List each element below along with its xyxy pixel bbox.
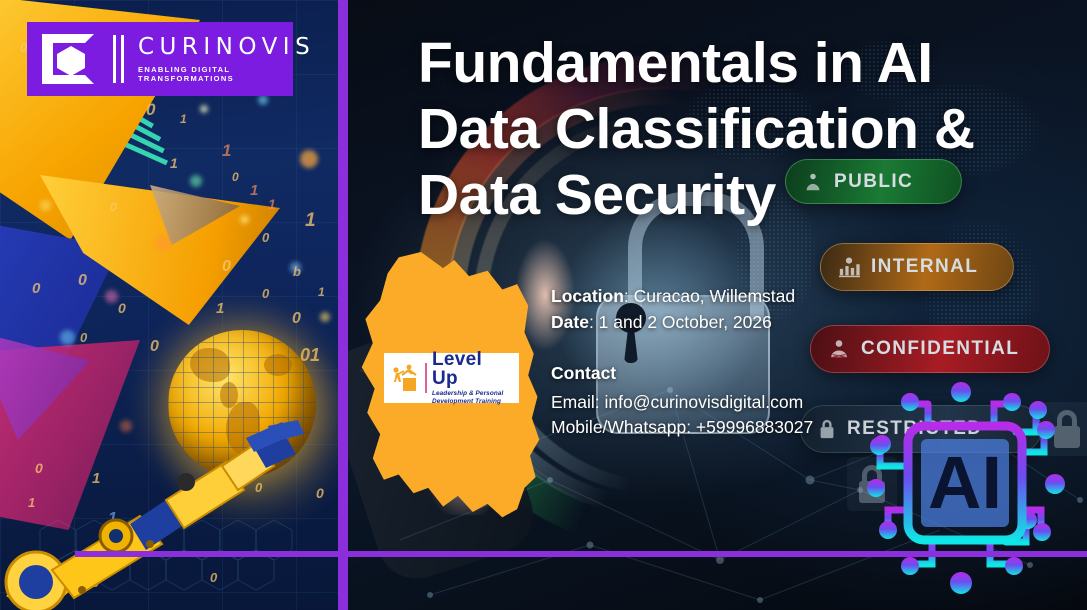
- event-details: Location: Curacao, Willemstad Date: 1 an…: [551, 283, 795, 335]
- ai-chip-label: AI: [928, 441, 1002, 524]
- partner-tagline-line2: Development Training: [432, 398, 513, 406]
- title-line-1: Fundamentals in AI: [418, 30, 1068, 96]
- padlock-icon: [817, 418, 837, 440]
- date-label: Date: [551, 312, 589, 332]
- contact-heading: Contact: [551, 361, 813, 386]
- location-value: Curacao, Willemstad: [634, 286, 795, 306]
- user-group-icon: [827, 338, 851, 360]
- location-label: Location: [551, 286, 624, 306]
- contact-mobile: Mobile/Whatsapp: +59996883027: [551, 415, 813, 440]
- robot-arm-graphic: [0, 420, 310, 610]
- partner-logo-levelup: Level Up Leadership & Personal Developme…: [384, 353, 519, 403]
- badge-internal-label: INTERNAL: [871, 256, 978, 278]
- people-ladder-icon: [390, 362, 420, 394]
- partner-tagline-line1: Leadership & Personal: [432, 390, 513, 398]
- horizontal-divider: [75, 551, 1087, 557]
- partner-name: Level Up: [432, 350, 513, 388]
- badge-confidential-label: CONFIDENTIAL: [861, 338, 1019, 360]
- event-poster: 0 1 1 1 0 1 1 1 0 0 b 0 1 1 0 0 0 0 0 0 …: [0, 0, 1087, 610]
- date-row: Date: 1 and 2 October, 2026: [551, 309, 795, 335]
- contact-block: Contact Email: info@curinovisdigital.com…: [551, 361, 813, 440]
- brand-tagline: ENABLING DIGITAL TRANSFORMATIONS: [138, 65, 315, 83]
- badge-internal: INTERNAL: [820, 243, 1014, 291]
- logo-bars: [113, 35, 124, 83]
- location-row: Location: Curacao, Willemstad: [551, 283, 795, 309]
- curinovis-mark-icon: [39, 32, 103, 86]
- date-value: 1 and 2 October, 2026: [599, 312, 772, 332]
- logo-divider: [425, 363, 427, 393]
- title-line-3: Data Security: [418, 162, 1068, 228]
- brand-logo: CURINOVIS ENABLING DIGITAL TRANSFORMATIO…: [27, 22, 293, 96]
- badge-confidential: CONFIDENTIAL: [810, 325, 1050, 373]
- bar-chart-person-icon: [837, 256, 861, 278]
- contact-email: Email: info@curinovisdigital.com: [551, 390, 813, 415]
- poster-title: Fundamentals in AI Data Classification &…: [418, 30, 1068, 228]
- vertical-divider: [338, 0, 348, 610]
- title-line-2: Data Classification &: [418, 96, 1068, 162]
- brand-name: CURINOVIS: [138, 36, 315, 59]
- ai-chip-graphic: AI: [866, 382, 1076, 610]
